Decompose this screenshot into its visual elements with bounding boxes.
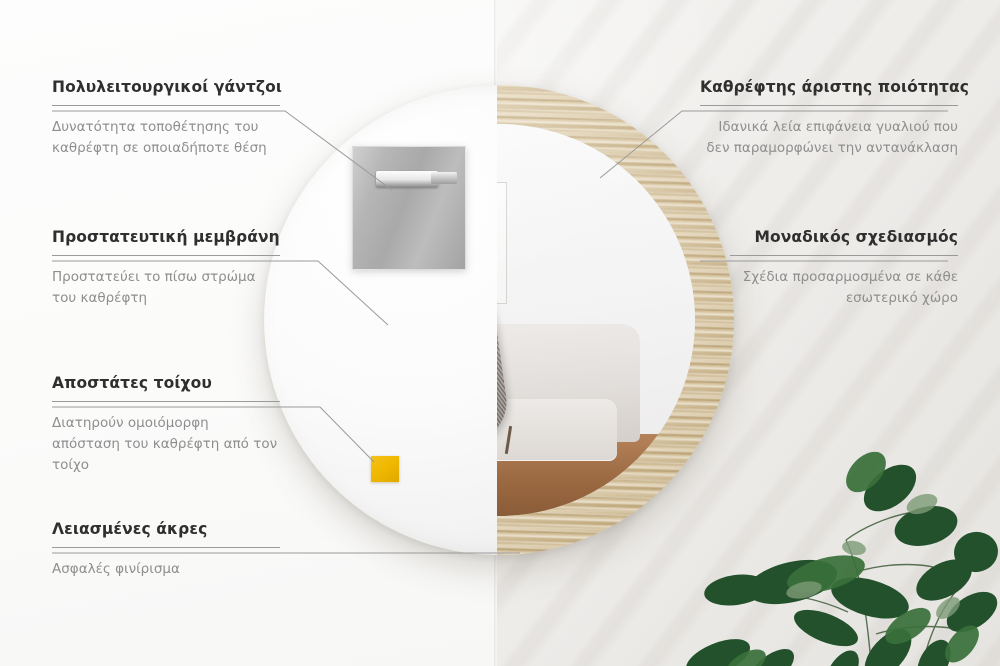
- callout-title: Λειασμένες άκρες: [52, 520, 280, 538]
- callout-divider: [52, 105, 280, 106]
- foliage-icon: [676, 376, 1000, 666]
- callout-description: Προστατεύει το πίσω στρώμα του καθρέφτη: [52, 267, 280, 309]
- callout-title: Πολυλειτουργικοί γάντζοι: [52, 78, 280, 96]
- hanging-bracket-plate: [352, 146, 466, 270]
- callout-smoothed-edges: Λειασμένες άκρες Ασφαλές φινίρισμα: [52, 520, 280, 580]
- callout-title: Μοναδικός σχεδιασμός: [730, 228, 958, 246]
- callout-divider: [700, 105, 958, 106]
- callout-protective-membrane: Προστατευτική μεμβράνη Προστατεύει το πί…: [52, 228, 280, 309]
- callout-description: Δυνατότητα τοποθέτησης του καθρέφτη σε ο…: [52, 117, 280, 159]
- product-infographic: Πολυλειτουργικοί γάντζοι Δυνατότητα τοπο…: [0, 0, 1000, 666]
- callout-description: Σχέδια προσαρμοσμένα σε κάθε εσωτερικό χ…: [730, 267, 958, 309]
- callout-description: Ασφαλές φινίρισμα: [52, 559, 280, 580]
- callout-title: Αποστάτες τοίχου: [52, 374, 280, 392]
- bracket-slot-secondary: [431, 172, 457, 184]
- callout-divider: [730, 255, 958, 256]
- callout-description: Ιδανικά λεία επιφάνεια γυαλιού που δεν π…: [700, 117, 958, 159]
- callout-title: Προστατευτική μεμβράνη: [52, 228, 280, 246]
- decorative-plant: [676, 376, 1000, 666]
- bracket-slot: [376, 171, 438, 187]
- callout-divider: [52, 547, 280, 548]
- callout-divider: [52, 401, 280, 402]
- round-mirror: [264, 85, 734, 555]
- wall-spacer: [371, 456, 399, 482]
- callout-unique-design: Μοναδικός σχεδιασμός Σχέδια προσαρμοσμέν…: [730, 228, 958, 309]
- callout-title: Καθρέφτης άριστης ποιότητας: [700, 78, 958, 96]
- callout-multifunctional-hooks: Πολυλειτουργικοί γάντζοι Δυνατότητα τοπο…: [52, 78, 280, 159]
- callout-top-quality-mirror: Καθρέφτης άριστης ποιότητας Ιδανικά λεία…: [700, 78, 958, 159]
- callout-divider: [52, 255, 280, 256]
- callout-wall-spacers: Αποστάτες τοίχου Διατηρούν ομοιόμορφη απ…: [52, 374, 280, 476]
- callout-description: Διατηρούν ομοιόμορφη απόσταση του καθρέφ…: [52, 413, 280, 476]
